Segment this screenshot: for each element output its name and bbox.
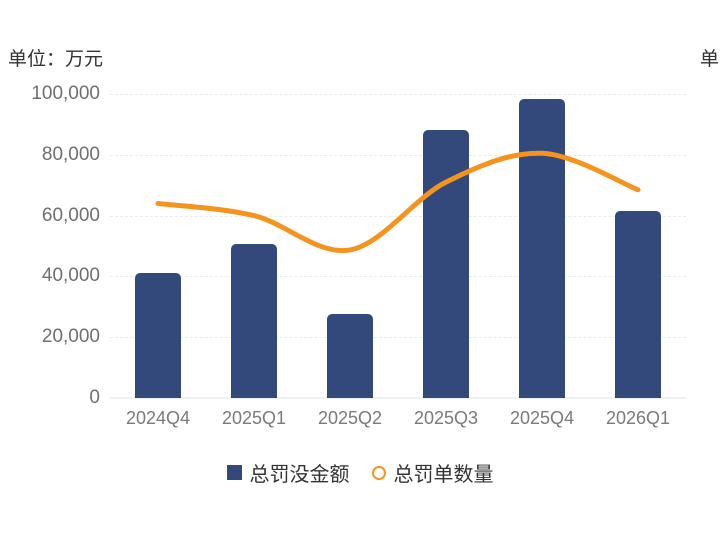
y-axis-tick-label: 0 <box>4 387 100 409</box>
unit-label-left: 单位：万元 <box>8 44 103 71</box>
x-axis-tick-label: 2025Q2 <box>318 408 382 429</box>
legend-label-bar: 总罚没金额 <box>250 458 350 487</box>
bar-2025Q4[interactable] <box>519 99 565 398</box>
axis-baseline <box>110 397 686 399</box>
bar-2025Q3[interactable] <box>423 130 469 398</box>
legend-item-bar[interactable]: 总罚没金额 <box>227 458 350 487</box>
chart-root: 单位：万元 单位 020,00040,00060,00080,000100,00… <box>0 0 720 540</box>
bar-2026Q1[interactable] <box>615 211 661 398</box>
y-axis-tick-label: 100,000 <box>4 83 100 105</box>
x-axis-tick-label: 2025Q1 <box>222 408 286 429</box>
gridline <box>110 155 686 157</box>
gridline <box>110 276 686 278</box>
x-axis-tick-label: 2025Q4 <box>510 408 574 429</box>
y-axis-tick-label: 80,000 <box>4 144 100 166</box>
x-axis-tick-label: 2024Q4 <box>126 408 190 429</box>
legend-square-icon <box>227 465 242 480</box>
unit-label-right: 单位 <box>700 44 720 71</box>
legend-item-line[interactable]: 总罚单数量 <box>372 458 494 487</box>
y-axis-tick-label: 60,000 <box>4 205 100 227</box>
x-axis-tick-label: 2026Q1 <box>606 408 670 429</box>
y-axis-tick-label: 40,000 <box>4 265 100 287</box>
gridline <box>110 216 686 218</box>
bar-2024Q4[interactable] <box>135 273 181 398</box>
gridline <box>110 337 686 339</box>
legend-label-line: 总罚单数量 <box>394 458 494 487</box>
x-axis-tick-label: 2025Q3 <box>414 408 478 429</box>
bar-2025Q1[interactable] <box>231 244 277 398</box>
y-axis: 020,00040,00060,00080,000100,000 <box>0 94 100 398</box>
legend-circle-icon <box>372 466 386 480</box>
plot-area <box>110 94 686 398</box>
y-axis-tick-label: 20,000 <box>4 326 100 348</box>
bar-2025Q2[interactable] <box>327 314 373 398</box>
chart-legend: 总罚没金额 总罚单数量 <box>0 458 720 487</box>
gridline <box>110 94 686 96</box>
